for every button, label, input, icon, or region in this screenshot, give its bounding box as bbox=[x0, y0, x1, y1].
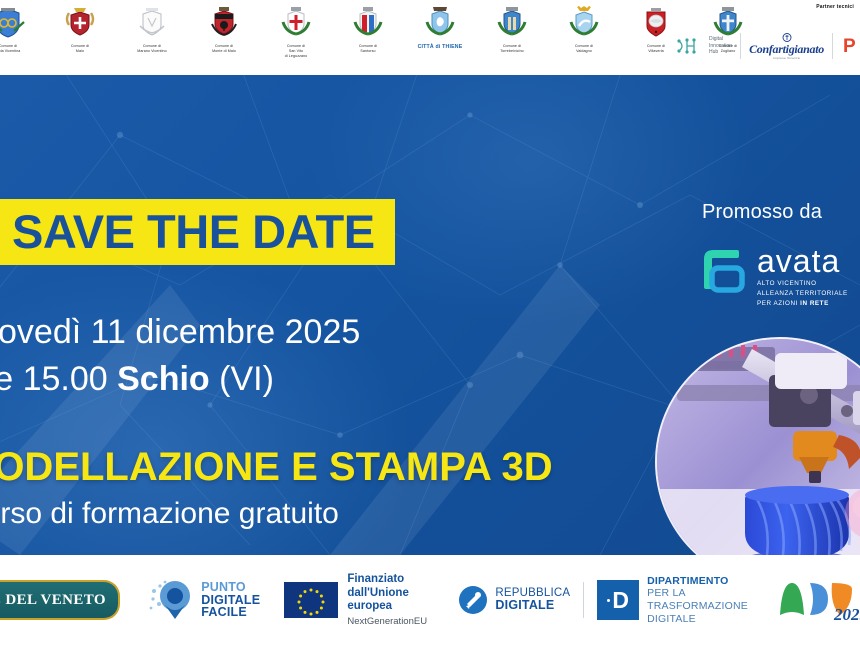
location-pin-icon bbox=[149, 577, 195, 623]
pdf-text-block: PUNTO DIGITALE FACILE bbox=[201, 581, 260, 619]
crest-malo-icon bbox=[60, 4, 100, 42]
avata-wordmark: avata bbox=[757, 247, 848, 276]
confartigianato-logo: Confartigianato Imprese Vicenza bbox=[749, 33, 824, 60]
avata-tagline: ALTO VICENTINO ALLEANZA TERRITORIALE PER… bbox=[757, 279, 848, 308]
rd-line-2: DIGITALE bbox=[495, 599, 570, 612]
punto-digitale-facile-logo: PUNTO DIGITALE FACILE bbox=[149, 577, 260, 623]
avata-logo: avata ALTO VICENTINO ALLEANZA TERRITORIA… bbox=[698, 245, 848, 309]
save-the-date-text: SAVE THE DATE bbox=[12, 208, 375, 255]
comune-valdagno: Comune di Valdagno bbox=[548, 4, 620, 54]
eu-funding-logo: Finanziato dall'Unione europea NextGener… bbox=[284, 573, 432, 627]
confartigianato-mark-icon bbox=[782, 33, 792, 42]
technical-partners-block: Partner tecnici Digital Innovation Hub bbox=[670, 4, 860, 70]
crest-isola-vicentina-icon bbox=[0, 4, 28, 42]
dih-mark-icon bbox=[676, 36, 706, 56]
comune-label: Comune di Villaverla bbox=[647, 44, 665, 54]
comune-label: Comune di Malo bbox=[71, 44, 89, 54]
crest-torrebelvicino-icon bbox=[492, 4, 532, 42]
partner-divider-2 bbox=[832, 33, 833, 59]
event-city: Schio bbox=[117, 360, 210, 398]
course-title: MODELLAZIONE E STAMPA 3D bbox=[0, 447, 553, 487]
3d-printer-illustration-icon bbox=[657, 339, 860, 555]
partner-logo-strip: Comune di Isola Vicentina Comune di Malo… bbox=[0, 0, 860, 75]
avata-text-block: avata ALTO VICENTINO ALLEANZA TERRITORIA… bbox=[757, 245, 848, 309]
eu-line-1: Finanziato bbox=[347, 573, 432, 587]
comune-label: Comune di Monte di Malo bbox=[212, 44, 236, 54]
crest-marano-vicentino-icon bbox=[132, 4, 172, 42]
avata-tagline-3: PER AZIONI IN RETE bbox=[757, 299, 848, 309]
pdf-line-1: PUNTO bbox=[201, 581, 260, 594]
dpt-line-3: DIGITALE bbox=[647, 613, 762, 626]
comune-santorso: Comune di Santorso bbox=[332, 4, 404, 54]
rd-text-block: REPUBBLICA DIGITALE bbox=[495, 587, 570, 612]
partner-divider bbox=[740, 33, 741, 59]
avata-tagline-3b: IN RETE bbox=[800, 300, 829, 307]
dpt-line-1: DIPARTIMENTO bbox=[647, 575, 762, 588]
dpt-text-block: DIPARTIMENTO PER LA TRASFORMAZIONE DIGIT… bbox=[647, 575, 762, 625]
comune-malo: Comune di Malo bbox=[44, 4, 116, 54]
event-time: ore 15.00 bbox=[0, 360, 117, 398]
eu-text-block: Finanziato dall'Unione europea NextGener… bbox=[347, 573, 432, 627]
p-partner-logo: P bbox=[843, 37, 856, 56]
pdf-line-3: FACILE bbox=[201, 606, 260, 619]
comune-label: Comune di Marano Vicentino bbox=[137, 44, 167, 54]
dpt-line-2: PER LA TRASFORMAZIONE bbox=[647, 587, 762, 612]
eu-line-2: dall'Unione europea bbox=[347, 587, 432, 614]
dpt-letter: D bbox=[612, 589, 629, 612]
ada-2025-logo: 2025 bbox=[774, 577, 860, 623]
comune-label: Comune di Valdagno bbox=[575, 44, 593, 54]
comune-torrebelvicino: Comune di Torrebelvicino bbox=[476, 4, 548, 54]
avata-mark-icon bbox=[698, 245, 748, 297]
comune-marano-vicentino: Comune di Marano Vicentino bbox=[116, 4, 188, 54]
partners-row: Digital Innovation Hub Confartigianato I… bbox=[670, 26, 860, 66]
comune-label: CITTÀ di THIENE bbox=[418, 44, 463, 51]
crest-santorso-icon bbox=[348, 4, 388, 42]
avata-tagline-1: ALTO VICENTINO bbox=[757, 279, 848, 289]
citta-di-thiene: CITTÀ di THIENE bbox=[404, 4, 476, 51]
crest-valdagno-icon bbox=[564, 4, 604, 42]
dpt-mark-icon: D bbox=[597, 580, 639, 620]
avata-tagline-3a: PER AZIONI bbox=[757, 300, 800, 307]
crest-thiene-icon bbox=[420, 4, 460, 42]
dih-label: Digital Innovation Hub bbox=[709, 36, 732, 56]
hero-banner: SAVE THE DATE Giovedì 11 dicembre 2025 o… bbox=[0, 75, 860, 555]
comune-isola-vicentina: Comune di Isola Vicentina bbox=[0, 4, 44, 54]
comune-monte-di-malo: Comune di Monte di Malo bbox=[188, 4, 260, 54]
avata-tagline-2: ALLEANZA TERRITORIALE bbox=[757, 289, 848, 299]
crest-san-vito-icon bbox=[276, 4, 316, 42]
comune-label: Comune di Torrebelvicino bbox=[500, 44, 524, 54]
regione-veneto-label: REGIONE DEL VENETO bbox=[0, 592, 106, 609]
event-time-location: ore 15.00 Schio (VI) bbox=[0, 361, 274, 398]
dipartimento-trasformazione-digitale-logo: D DIPARTIMENTO PER LA TRASFORMAZIONE DIG… bbox=[597, 575, 762, 625]
confartigianato-sub: Imprese Vicenza bbox=[749, 56, 824, 60]
printer-photo bbox=[655, 337, 860, 555]
institutional-footer: REGIONE DEL VENETO PUNTO DIGITALE FACILE bbox=[0, 555, 860, 645]
repubblica-digitale-mark-icon bbox=[458, 585, 488, 615]
course-subtitle: Corso di formazione gratuito bbox=[0, 497, 339, 530]
event-date: Giovedì 11 dicembre 2025 bbox=[0, 314, 360, 351]
dpt-dot bbox=[607, 599, 610, 602]
eu-line-3: NextGenerationEU bbox=[347, 616, 432, 627]
comune-label: Comune di San Vito di Leguzzano bbox=[285, 44, 308, 59]
crest-monte-di-malo-icon bbox=[204, 4, 244, 42]
promoted-by-label: Promosso da bbox=[702, 201, 822, 224]
regione-veneto-logo: REGIONE DEL VENETO bbox=[0, 580, 120, 620]
repubblica-digitale-logo: REPUBBLICA DIGITALE bbox=[458, 585, 570, 615]
regione-veneto-badge: REGIONE DEL VENETO bbox=[0, 580, 120, 620]
event-province: (VI) bbox=[210, 360, 274, 398]
comune-san-vito-di-leguzzano: Comune di San Vito di Leguzzano bbox=[260, 4, 332, 59]
footer-divider bbox=[583, 582, 584, 618]
confartigianato-name: Confartigianato bbox=[749, 43, 824, 55]
comune-label: Comune di Santorso bbox=[359, 44, 377, 54]
footer-logos-row: REGIONE DEL VENETO PUNTO DIGITALE FACILE bbox=[0, 569, 860, 631]
comuni-logos-row: Comune di Isola Vicentina Comune di Malo… bbox=[0, 4, 764, 59]
ada-year: 2025 bbox=[834, 605, 860, 625]
partners-title: Partner tecnici bbox=[816, 4, 854, 10]
eu-flag-icon bbox=[284, 582, 338, 618]
comune-label: Comune di Isola Vicentina bbox=[0, 44, 20, 54]
digital-innovation-hub-logo: Digital Innovation Hub bbox=[670, 36, 732, 56]
save-the-date-banner: SAVE THE DATE bbox=[0, 199, 395, 265]
